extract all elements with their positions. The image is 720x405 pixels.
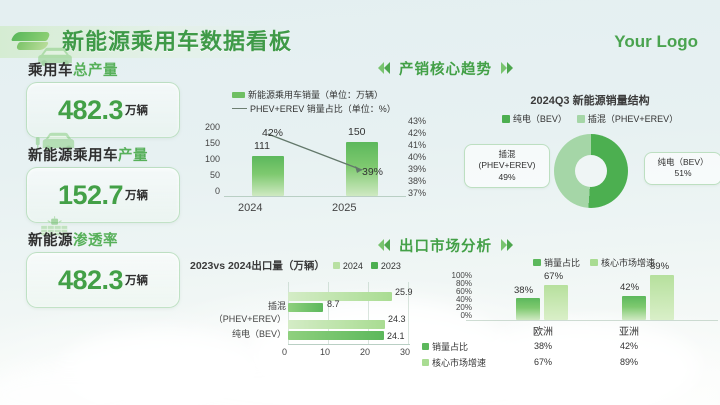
y-category: 插混（PHEV+EREV）	[206, 299, 286, 325]
table-row-label-cell: 核心市场增速	[422, 356, 500, 369]
kpi-value: 482.3	[58, 95, 123, 126]
kpi-label-light: 渗透率	[73, 233, 118, 249]
legend-item-2023: 2023	[371, 261, 401, 271]
x-tick: 2025	[332, 202, 356, 214]
chart-legend: 新能源乘用车销量（单位：万辆）	[232, 88, 457, 101]
table-cell: 89%	[586, 357, 672, 367]
row-swatch	[422, 343, 429, 350]
table-row-header: 欧洲 亚洲	[422, 322, 718, 338]
chart-legend: 销量占比 核心市场增速	[470, 256, 718, 269]
legend-item-2024: 2024	[333, 261, 363, 271]
legend-swatch	[232, 92, 245, 98]
kpi-value-box: 482.3 万辆	[26, 82, 180, 138]
kpi-label-light: 产量	[118, 148, 148, 164]
callout-line1: 插混	[470, 149, 544, 160]
brand-logo: Your Logo	[614, 24, 698, 60]
hbar-bev-2023	[288, 331, 384, 340]
table-row: 核心市场增速 67% 89%	[422, 354, 718, 370]
legend-label: 核心市场增速	[601, 256, 655, 269]
legend-swatch	[577, 115, 585, 123]
legend-item-share: 销量占比	[533, 256, 580, 269]
kpi-value: 152.7	[58, 180, 123, 211]
legend-label: 纯电（BEV）	[513, 112, 567, 125]
donut-callout-bev: 纯电（BEV） 51%	[644, 152, 720, 185]
x-tick: 0	[282, 347, 287, 357]
hbar-value: 24.1	[387, 331, 405, 341]
legend-label: 销量占比	[544, 256, 580, 269]
kpi-label-bold: 乘用车	[28, 63, 73, 79]
x-tick: 2024	[238, 202, 262, 214]
hbar-phev-2024	[288, 292, 392, 301]
kpi-unit: 万辆	[125, 272, 148, 288]
y2-tick: 39%	[408, 164, 426, 174]
table-cell: 67%	[500, 357, 586, 367]
legend-swatch	[533, 259, 541, 266]
kpi-value-box: 152.7 万辆	[26, 167, 180, 223]
bar-label-europe-share: 38%	[514, 285, 533, 296]
callout-line2: (PHEV+EREV)	[470, 160, 544, 171]
chart-legend: 纯电（BEV） 插混（PHEV+EREV）	[462, 112, 718, 125]
table-col-header: 欧洲	[500, 323, 586, 338]
donut-callout-phev: 插混 (PHEV+EREV) 49%	[464, 144, 550, 188]
line-point-label-2025: 39%	[362, 166, 383, 178]
chevron-right-icon	[499, 62, 513, 74]
chart-sales-trend: 新能源乘用车销量（单位：万辆） PHEV+EREV 销量占比（单位：%） 200…	[190, 88, 460, 228]
kpi-label-bold: 新能源	[28, 233, 73, 249]
chevron-right-icon	[499, 239, 513, 251]
y2-tick: 37%	[408, 188, 426, 198]
kpi-unit: 万辆	[125, 102, 148, 118]
table-cell: 42%	[586, 341, 672, 351]
table-row: 销量占比 38% 42%	[422, 338, 718, 354]
legend-swatch	[502, 115, 510, 123]
x-tick: 10	[320, 347, 330, 357]
row-swatch	[422, 359, 429, 366]
kpi-label-light: 总产量	[73, 63, 118, 79]
y-tick: 100	[194, 154, 220, 164]
section-title: 出口市场分析	[399, 235, 492, 256]
chevron-left-icon	[378, 62, 392, 74]
hbar-bev-2024	[288, 320, 385, 329]
data-table: 欧洲 亚洲 销量占比 38% 42% 核心市场增速 67% 89%	[422, 322, 718, 370]
kpi-label: 乘用车总产量	[14, 60, 182, 82]
x-tick: 30	[400, 347, 410, 357]
section-title: 产销核心趋势	[399, 58, 492, 79]
legend-item-phev: 插混（PHEV+EREV）	[577, 112, 678, 125]
y-tick: 200	[194, 122, 220, 132]
y-tick: 150	[194, 138, 220, 148]
kpi-value: 482.3	[58, 265, 123, 296]
dashboard-header: 新能源乘用车数据看板 Your Logo	[0, 24, 720, 60]
callout-line1: 纯电（BEV）	[650, 157, 716, 168]
legend-label: 插混（PHEV+EREV）	[588, 112, 678, 125]
y2-tick: 42%	[408, 128, 426, 138]
table-cell: 38%	[500, 341, 586, 351]
legend-item-bev: 纯电（BEV）	[502, 112, 567, 125]
table-row-label: 核心市场增速	[432, 356, 486, 369]
y-axis-ticks: 100% 80% 60% 40% 20% 0%	[436, 272, 472, 320]
page-title: 新能源乘用车数据看板	[62, 24, 292, 60]
table-row-label-cell: 销量占比	[422, 340, 500, 353]
chart-nev-structure: 2024Q3 新能源销量结构 纯电（BEV） 插混（PHEV+EREV） 插混 …	[462, 92, 718, 228]
hbar-value: 8.7	[327, 299, 340, 309]
y2-tick: 40%	[408, 152, 426, 162]
line-point-label-2024: 42%	[262, 127, 283, 139]
donut-chart	[554, 134, 628, 208]
table-col-header: 亚洲	[586, 323, 672, 338]
kpi-column: 乘用车总产量 482.3 万辆 新能源乘用车产量 152.7 万辆	[14, 60, 182, 315]
legend-label: 新能源乘用车销量（单位：万辆）	[248, 88, 383, 101]
bar-asia-share	[622, 296, 646, 320]
y-category: 纯电（BEV）	[206, 327, 286, 340]
legend-swatch	[371, 262, 378, 269]
chevron-left-icon	[378, 239, 392, 251]
y-tick: 0%	[436, 312, 472, 320]
chart-export-volume: 2023vs 2024出口量（万辆） 2024 2023 25.9 8.7 24…	[190, 258, 440, 368]
kpi-unit: 万辆	[125, 187, 148, 203]
legend-item-growth: 核心市场增速	[590, 256, 655, 269]
section-header-trends: 产销核心趋势	[378, 58, 513, 78]
hbar-phev-2023	[288, 303, 323, 312]
y-tick: 0	[194, 186, 220, 196]
hbar-value: 24.3	[388, 314, 406, 324]
kpi-label: 新能源乘用车产量	[14, 145, 182, 167]
legend-item-line: PHEV+EREV 销量占比（单位：%）	[232, 102, 396, 115]
chart-header-row: 2023vs 2024出口量（万辆） 2024 2023	[190, 258, 440, 273]
chart-title: 2024Q3 新能源销量结构	[462, 92, 718, 108]
bar-europe-growth	[544, 285, 568, 320]
legend-label: PHEV+EREV 销量占比（单位：%）	[250, 102, 396, 115]
kpi-value-box: 482.3 万辆	[26, 252, 180, 308]
kpi-card-nev-output: 新能源乘用车产量 152.7 万辆	[14, 145, 182, 223]
legend-label: 2023	[381, 261, 401, 271]
plot-area: 111 150	[224, 124, 404, 196]
trend-line	[224, 124, 406, 196]
kpi-card-total-output: 乘用车总产量 482.3 万辆	[14, 60, 182, 138]
plot-area: 38% 67% 42% 89%	[474, 270, 718, 320]
x-axis-line	[224, 196, 406, 197]
plot-area: 25.9 8.7 24.3 24.1	[288, 282, 408, 344]
bar-label-europe-growth: 67%	[544, 271, 563, 282]
y2-tick: 38%	[408, 176, 426, 186]
y-tick: 50	[194, 170, 220, 180]
x-tick: 20	[360, 347, 370, 357]
chart-regional-share-growth: 销量占比 核心市场增速 100% 80% 60% 40% 20% 0% 38% …	[430, 256, 718, 368]
hbar-value: 25.9	[395, 287, 413, 297]
callout-line3: 49%	[470, 172, 544, 183]
section-header-export: 出口市场分析	[378, 235, 513, 255]
bar-label-asia-share: 42%	[620, 282, 639, 293]
bar-asia-growth	[650, 275, 674, 320]
legend-item-bar: 新能源乘用车销量（单位：万辆）	[232, 88, 383, 101]
bar-label-asia-growth: 89%	[650, 261, 669, 272]
bar-europe-share	[516, 298, 540, 320]
dashboard-root: 新能源乘用车数据看板 Your Logo 乘用车总产量 482.3 万辆	[0, 0, 720, 405]
legend-line-marker	[232, 108, 247, 109]
donut-hole	[575, 155, 607, 187]
legend-swatch	[590, 259, 598, 266]
legend-swatch	[333, 262, 340, 269]
kpi-label-bold: 新能源乘用车	[28, 148, 118, 164]
callout-line2: 51%	[650, 168, 716, 179]
y2-tick: 41%	[408, 140, 426, 150]
legend-label: 2024	[343, 261, 363, 271]
table-row-label: 销量占比	[432, 340, 468, 353]
chart-legend-line: PHEV+EREV 销量占比（单位：%）	[232, 102, 457, 115]
y2-tick: 43%	[408, 116, 426, 126]
kpi-card-nev-penetration: 新能源渗透率 482.3 万辆	[14, 230, 182, 308]
kpi-label: 新能源渗透率	[14, 230, 182, 252]
chart-title: 2023vs 2024出口量（万辆）	[190, 258, 325, 273]
